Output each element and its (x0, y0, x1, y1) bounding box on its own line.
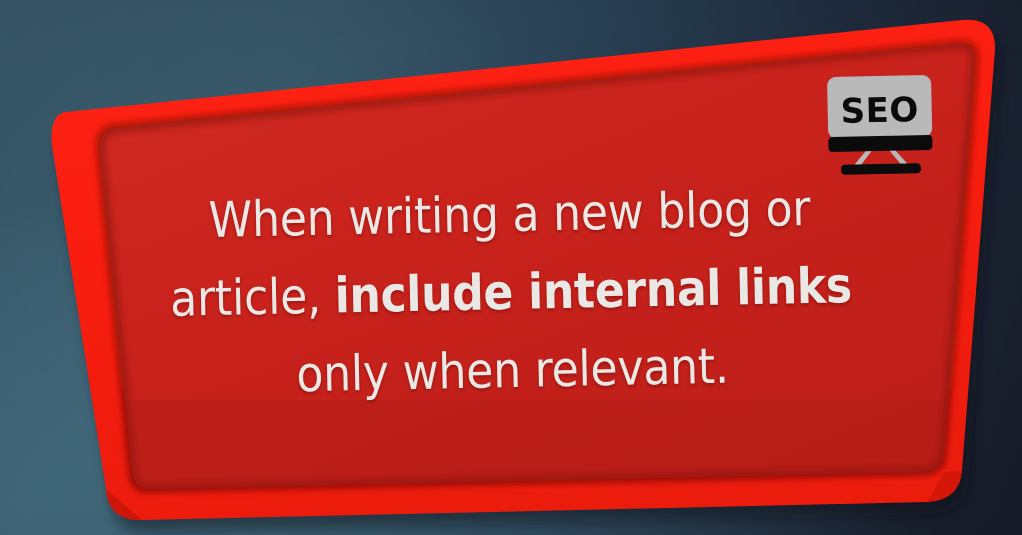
quote-text-block: When writing a new blog or article, incl… (94, 168, 929, 419)
seo-monitor-icon: SEO (823, 73, 937, 175)
quote-line-2: article, include internal links (95, 246, 926, 341)
monitor-base-bar (828, 135, 932, 152)
quote-line-3: only when relevant. (97, 324, 928, 419)
quote-line-2-prefix: article, (170, 268, 336, 328)
quote-line-2-emphasis: include internal links (334, 257, 852, 324)
seo-tip-card: SEO When writing a new blog or article, … (0, 0, 1022, 535)
seo-icon-label: SEO (840, 90, 919, 132)
